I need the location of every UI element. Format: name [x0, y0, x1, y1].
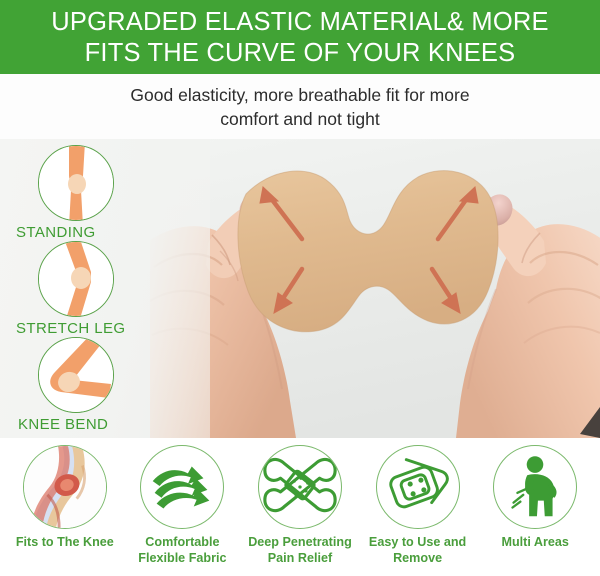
feature-item: Easy to Use and Remove — [359, 445, 477, 566]
feature-label: Deep Penetrating Pain Relief — [242, 535, 358, 566]
peel-patch-icon — [376, 445, 460, 529]
pose-item-standing: STANDING — [16, 145, 166, 241]
pose-label-standing: STANDING — [16, 224, 166, 241]
feature-label: Multi Areas — [501, 535, 568, 551]
crossed-bandages-icon — [258, 445, 342, 529]
feature-label: Easy to Use and Remove — [360, 535, 476, 566]
knee-anatomy-icon — [23, 445, 107, 529]
pose-list: STANDING STRETCH LEG — [16, 145, 166, 433]
stretched-leg-icon — [38, 241, 114, 317]
hands-stretching-patch-photo — [150, 139, 600, 438]
feature-strip: Fits to The Knee Comfortable Flexible Fa… — [0, 438, 600, 576]
feature-item: Deep Penetrating Pain Relief — [241, 445, 359, 566]
product-infographic: UPGRADED ELASTIC MATERIAL& MORE FITS THE… — [0, 0, 600, 576]
pose-label-knee-bend: KNEE BEND — [16, 416, 166, 433]
feature-label: Comfortable Flexible Fabric — [124, 535, 240, 566]
bent-knee-icon — [38, 337, 114, 413]
feature-item: Comfortable Flexible Fabric — [124, 445, 242, 566]
subtitle-block: Good elasticity, more breathable fit for… — [0, 74, 600, 139]
header-title-line-2: FITS THE CURVE OF YOUR KNEES — [85, 38, 516, 69]
subtitle-line-1: Good elasticity, more breathable fit for… — [130, 83, 469, 107]
pose-label-stretch-leg: STRETCH LEG — [16, 320, 166, 337]
pose-item-knee-bend: KNEE BEND — [16, 337, 166, 433]
pose-item-stretch-leg: STRETCH LEG — [16, 241, 166, 337]
product-photo-stage: STANDING STRETCH LEG — [0, 139, 600, 438]
feature-item: Multi Areas — [476, 445, 594, 551]
feature-label: Fits to The Knee — [16, 535, 114, 551]
header-title-line-1: UPGRADED ELASTIC MATERIAL& MORE — [51, 7, 548, 38]
person-back-pain-icon — [493, 445, 577, 529]
subtitle-line-2: comfort and not tight — [220, 107, 380, 131]
photo-svg — [150, 139, 600, 438]
standing-leg-icon — [38, 145, 114, 221]
header-banner: UPGRADED ELASTIC MATERIAL& MORE FITS THE… — [0, 0, 600, 74]
feature-item: Fits to The Knee — [6, 445, 124, 551]
airflow-breathable-icon — [140, 445, 224, 529]
